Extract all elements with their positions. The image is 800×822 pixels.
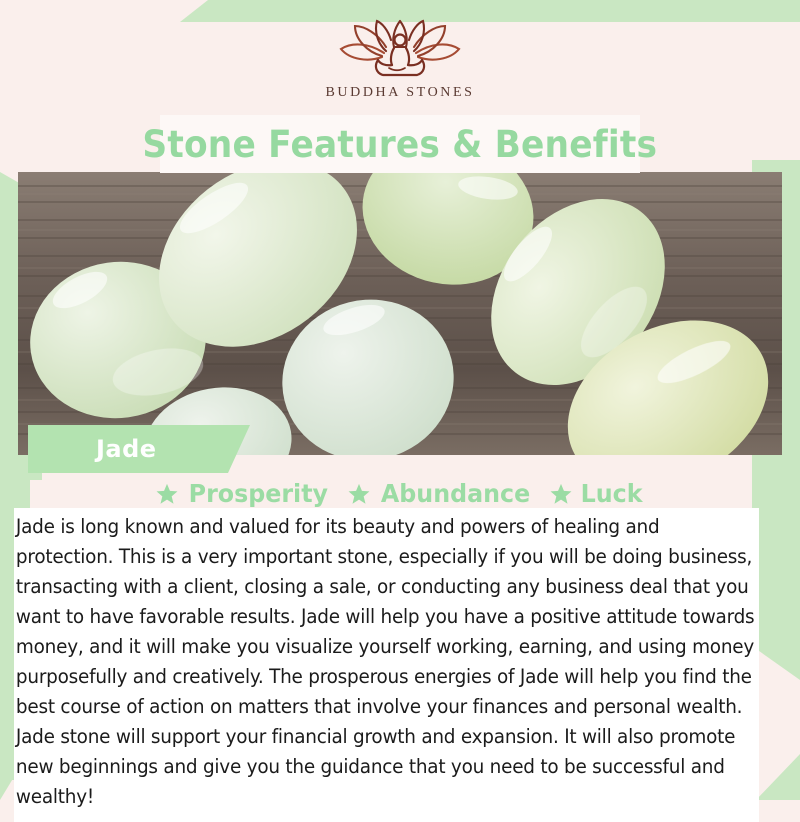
star-icon	[550, 483, 572, 505]
star-icon	[348, 483, 370, 505]
benefit-label: Prosperity	[189, 479, 328, 508]
benefits-row: Prosperity Abundance Luck	[0, 479, 800, 508]
stone-name-label: Jade	[96, 435, 157, 463]
benefit-item-luck: Luck	[550, 479, 644, 508]
title-banner: Stone Features & Benefits	[160, 115, 640, 173]
hero-stone-photo	[18, 172, 782, 455]
star-icon	[156, 483, 178, 505]
lotus-meditation-icon	[330, 18, 470, 80]
brand-header: BUDDHA STONES	[0, 0, 800, 118]
stone-name-banner: Jade	[28, 425, 250, 473]
benefit-label: Luck	[580, 479, 642, 508]
page-title: Stone Features & Benefits	[143, 123, 658, 166]
benefit-item-abundance: Abundance	[348, 479, 534, 508]
benefit-item-prosperity: Prosperity	[156, 479, 332, 508]
stone-description: Jade is long known and valued for its be…	[14, 508, 759, 822]
benefit-label: Abundance	[381, 479, 530, 508]
decor-bottom-right-wedge	[756, 754, 800, 800]
brand-name: BUDDHA STONES	[325, 85, 474, 101]
